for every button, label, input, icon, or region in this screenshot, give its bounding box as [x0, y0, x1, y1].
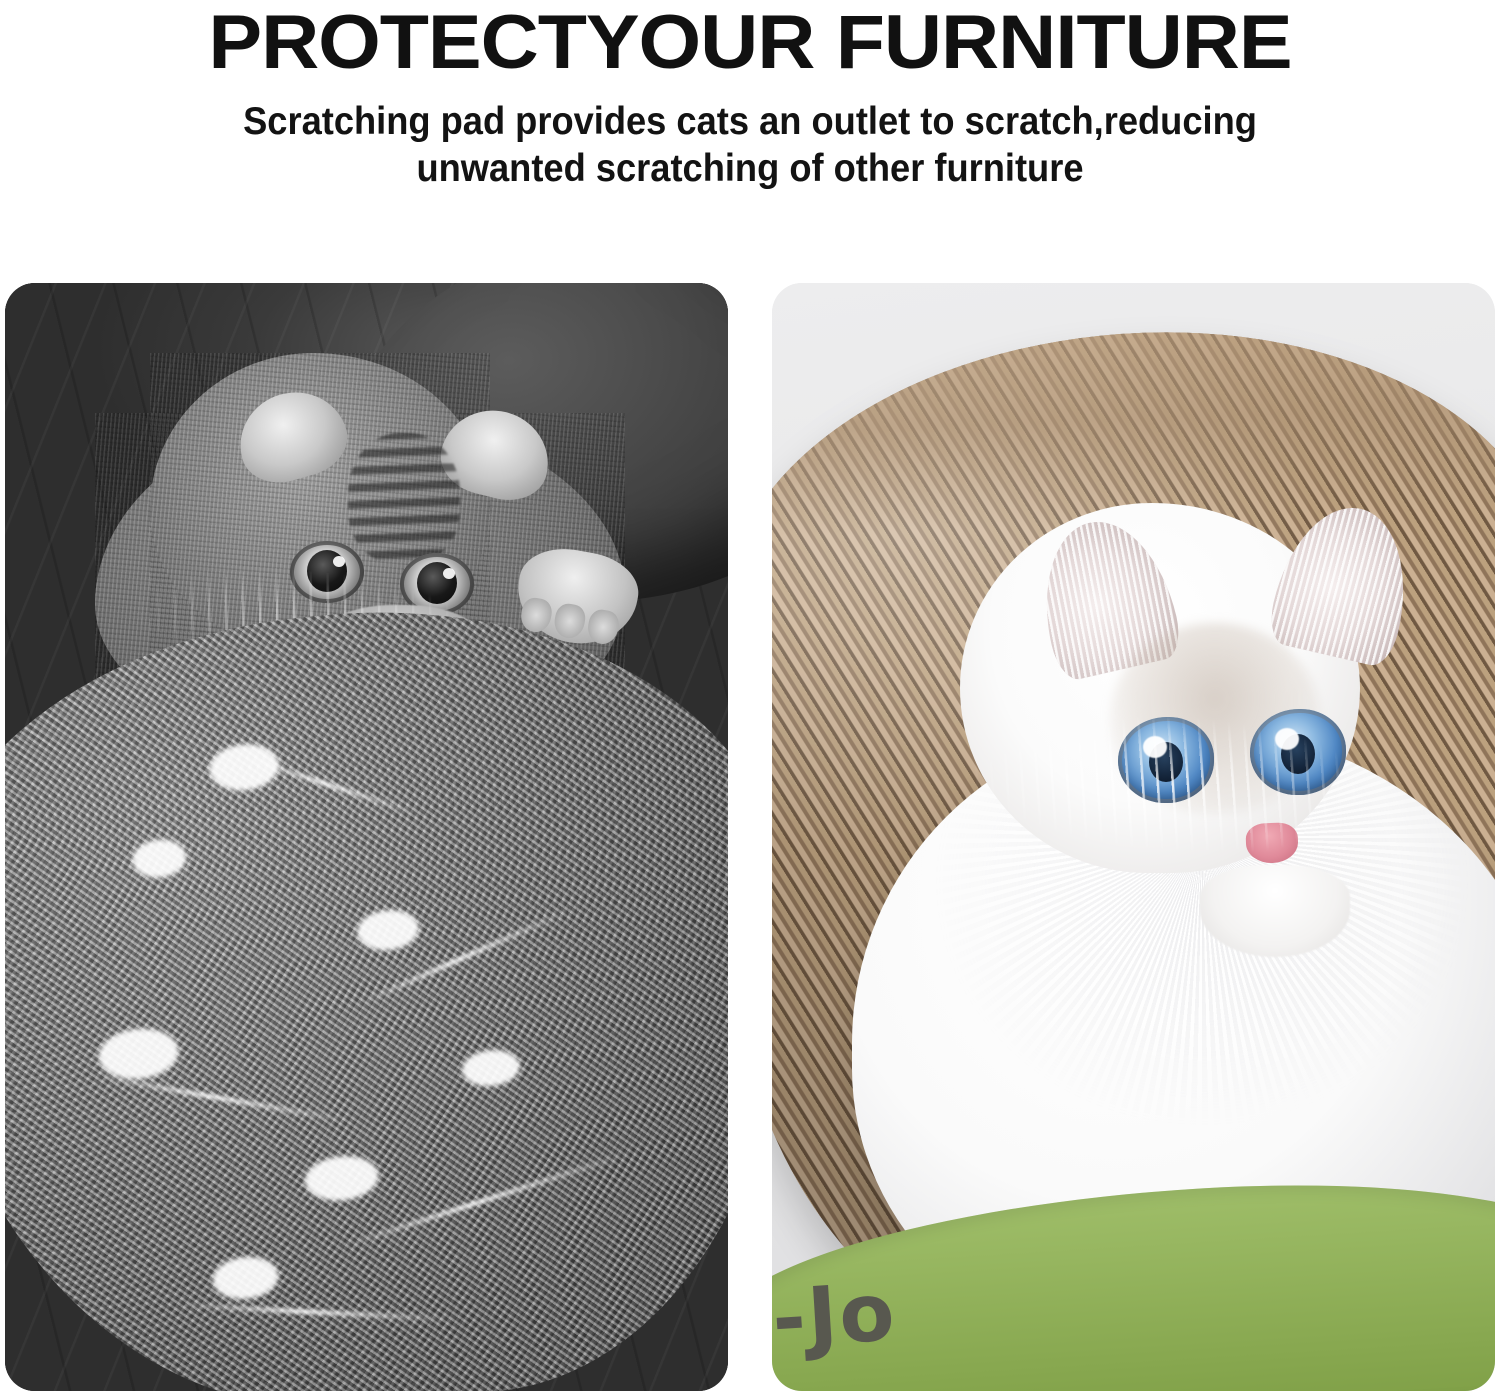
cat-forehead-markings — [348, 433, 460, 563]
shredded-upholstery — [5, 570, 728, 1391]
header-block: PROTECTYOUR FURNITURE Scratching pad pro… — [0, 0, 1500, 192]
page-title: PROTECTYOUR FURNITURE — [0, 2, 1500, 84]
page-subtitle-line-2: unwanted scratching of other furniture — [53, 145, 1448, 192]
cat-ear-right — [1265, 495, 1423, 670]
before-after-comparison: BEFOR — [0, 283, 1500, 1391]
page-subtitle: Scratching pad provides cats an outlet t… — [53, 98, 1448, 192]
before-panel[interactable]: BEFOR — [5, 283, 728, 1391]
cat-whiskers — [908, 700, 1437, 907]
page-subtitle-line-1: Scratching pad provides cats an outlet t… — [53, 98, 1448, 145]
brand-band-text: -Jo — [772, 1265, 899, 1365]
after-panel[interactable]: -Jo AFTER — [772, 283, 1495, 1391]
